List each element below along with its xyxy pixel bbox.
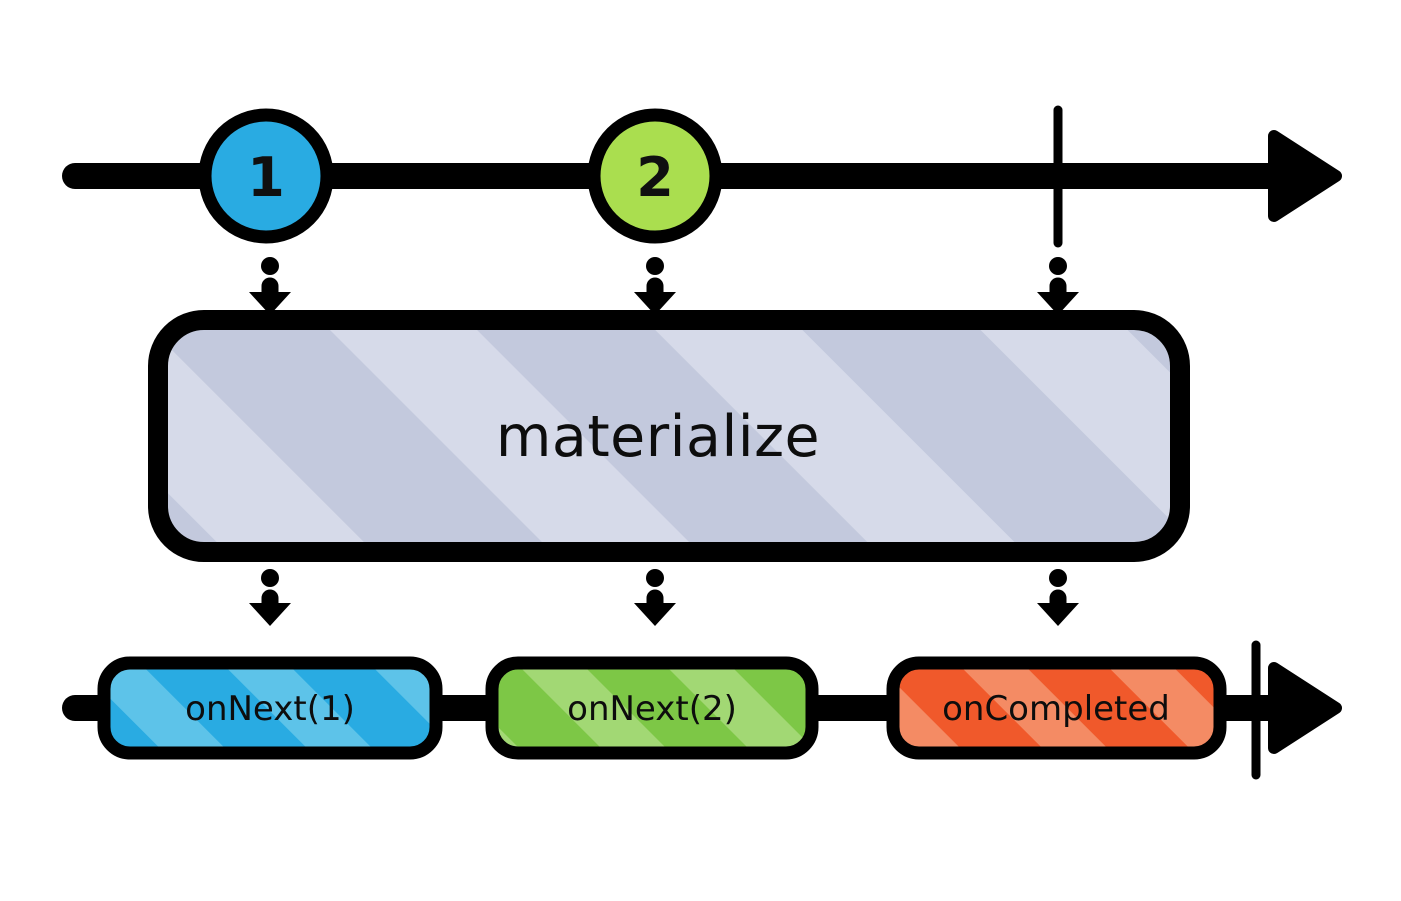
operator-box-label: materialize (496, 404, 820, 470)
notification-oncompleted[interactable]: onCompleted (893, 663, 1220, 753)
source-marble-1[interactable]: 1 (205, 115, 327, 237)
source-marble-2-label: 2 (636, 146, 674, 209)
lower-arrow-3 (1037, 569, 1079, 626)
arrow-dot-icon (1049, 569, 1067, 587)
notification-onnext-2[interactable]: onNext(2) (492, 663, 812, 753)
source-timeline-arrowhead (1274, 136, 1336, 216)
lower-arrow-2 (634, 569, 676, 626)
source-marble-1-label: 1 (247, 146, 285, 209)
upper-arrow-1 (249, 257, 291, 315)
upper-arrow-3 (1037, 257, 1079, 315)
arrow-dot-icon (261, 569, 279, 587)
arrow-dot-icon (646, 257, 664, 275)
lower-connector-arrows (249, 569, 1079, 626)
notification-onnext-1[interactable]: onNext(1) (104, 663, 436, 753)
diagram-svg: 1 2 (0, 0, 1401, 901)
marble-diagram-canvas: 1 2 (0, 0, 1401, 901)
upper-arrow-2 (634, 257, 676, 315)
arrow-dot-icon (261, 257, 279, 275)
source-marble-2[interactable]: 2 (594, 115, 716, 237)
upper-connector-arrows (249, 257, 1079, 315)
notification-onnext-2-label: onNext(2) (567, 689, 737, 729)
notification-onnext-1-label: onNext(1) (185, 689, 355, 729)
arrow-head-icon (1037, 603, 1079, 626)
notification-oncompleted-label: onCompleted (942, 689, 1170, 729)
lower-arrow-1 (249, 569, 291, 626)
arrow-head-icon (634, 603, 676, 626)
arrow-head-icon (249, 603, 291, 626)
arrow-dot-icon (646, 569, 664, 587)
output-timeline-arrowhead (1274, 668, 1336, 748)
materialize-operator-box[interactable]: materialize (158, 320, 1180, 552)
arrow-dot-icon (1049, 257, 1067, 275)
